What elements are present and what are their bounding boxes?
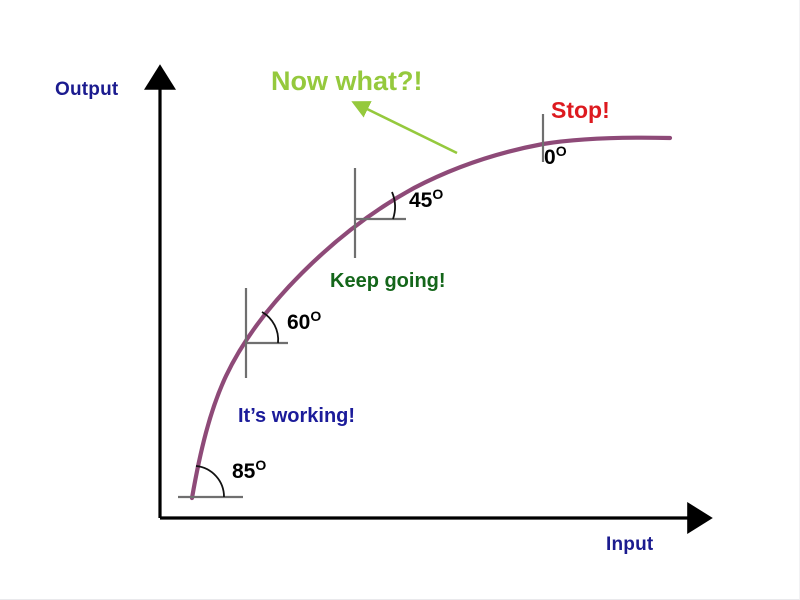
angle-label-60: 60O (287, 312, 321, 333)
angle-label-45: 45O (409, 190, 443, 211)
angle-45-arc (392, 192, 395, 219)
y-axis-label: Output (55, 80, 118, 99)
angle-label-85-degree-symbol: O (255, 457, 266, 473)
slide-canvas: Output Input Now what?! Stop! Keep going… (0, 0, 800, 600)
angle-label-60-value: 60 (287, 311, 310, 334)
callout-keep-going: Keep going! (330, 271, 446, 291)
callout-now-what: Now what?! (271, 68, 422, 95)
angle-label-85-value: 85 (232, 460, 255, 483)
angle-label-45-degree-symbol: O (432, 186, 443, 202)
angle-label-0-degree-symbol: O (556, 143, 567, 159)
callout-its-working: It’s working! (238, 406, 355, 426)
x-axis-label: Input (606, 535, 653, 554)
angle-label-60-degree-symbol: O (310, 308, 321, 324)
angle-label-45-value: 45 (409, 189, 432, 212)
angle-marker-45 (355, 168, 406, 258)
angle-label-0: 0O (544, 147, 567, 168)
angle-label-0-value: 0 (544, 146, 556, 169)
angle-85-arc (196, 466, 224, 497)
callout-stop: Stop! (551, 99, 610, 122)
now-what-arrow (363, 107, 457, 153)
angle-label-85: 85O (232, 461, 266, 482)
